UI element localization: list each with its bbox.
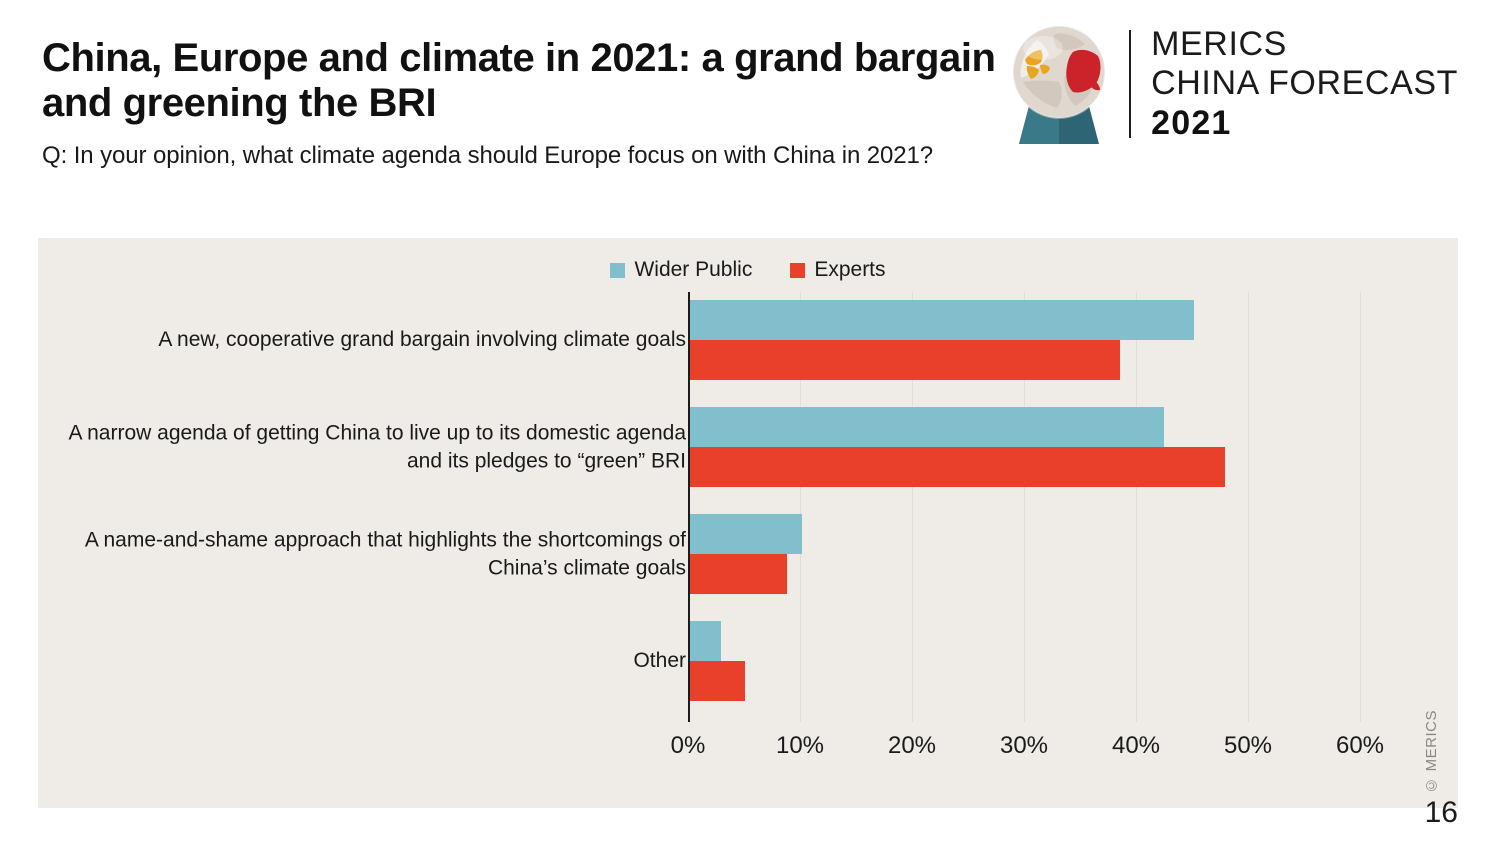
bar-pair: [690, 407, 1225, 487]
x-tick-label: 50%: [1224, 732, 1272, 760]
bar-pair: [690, 300, 1194, 380]
plot-area: A new, cooperative grand bargain involvi…: [38, 292, 1458, 808]
bar-group: A narrow agenda of getting China to live…: [38, 407, 1458, 514]
x-tick-label: 60%: [1336, 732, 1384, 760]
x-tick-label: 0%: [671, 732, 706, 760]
category-label: A narrow agenda of getting China to live…: [66, 419, 686, 474]
logo-year: 2021: [1151, 104, 1458, 143]
logo-divider: [1129, 30, 1131, 138]
chart-legend: Wider PublicExperts: [38, 258, 1458, 282]
legend-item-experts[interactable]: Experts: [790, 258, 885, 282]
bar-experts[interactable]: [690, 661, 745, 701]
merics-logo: MERICS CHINA FORECAST 2021: [1003, 18, 1458, 150]
bar-pair: [690, 621, 745, 701]
crystal-ball-globe-icon: [1003, 20, 1115, 148]
bar-wider-public[interactable]: [690, 514, 802, 554]
bar-group: A name-and-shame approach that highlight…: [38, 514, 1458, 621]
bar-experts[interactable]: [690, 447, 1225, 487]
page-number: 16: [1425, 796, 1458, 830]
logo-wordmark: MERICS CHINA FORECAST 2021: [1151, 25, 1458, 142]
x-axis-ticks: 0%10%20%30%40%50%60%: [38, 732, 1458, 772]
category-label: Other: [66, 647, 686, 675]
header: China, Europe and climate in 2021: a gra…: [42, 36, 1052, 170]
bar-wider-public[interactable]: [690, 621, 721, 661]
bar-experts[interactable]: [690, 554, 787, 594]
legend-label: Experts: [814, 258, 885, 282]
logo-brand: MERICS: [1151, 25, 1458, 64]
legend-swatch-icon: [790, 263, 805, 278]
legend-label: Wider Public: [634, 258, 752, 282]
bar-group: Other: [38, 621, 1458, 728]
copyright-notice: © MERICS: [1423, 710, 1440, 794]
x-tick-label: 30%: [1000, 732, 1048, 760]
x-tick-label: 40%: [1112, 732, 1160, 760]
chart-panel: Wider PublicExperts A new, cooperative g…: [38, 238, 1458, 808]
page-subtitle: Q: In your opinion, what climate agenda …: [42, 142, 1052, 170]
category-label: A new, cooperative grand bargain involvi…: [66, 326, 686, 354]
bar-group: A new, cooperative grand bargain involvi…: [38, 300, 1458, 407]
legend-swatch-icon: [610, 263, 625, 278]
category-label: A name-and-shame approach that highlight…: [66, 526, 686, 581]
legend-item-wider-public[interactable]: Wider Public: [610, 258, 752, 282]
slide: China, Europe and climate in 2021: a gra…: [0, 0, 1500, 844]
x-tick-label: 20%: [888, 732, 936, 760]
bar-wider-public[interactable]: [690, 407, 1164, 447]
bar-experts[interactable]: [690, 340, 1120, 380]
x-tick-label: 10%: [776, 732, 824, 760]
bar-pair: [690, 514, 802, 594]
bar-wider-public[interactable]: [690, 300, 1194, 340]
logo-product: CHINA FORECAST: [1151, 64, 1458, 103]
page-title: China, Europe and climate in 2021: a gra…: [42, 36, 1052, 126]
